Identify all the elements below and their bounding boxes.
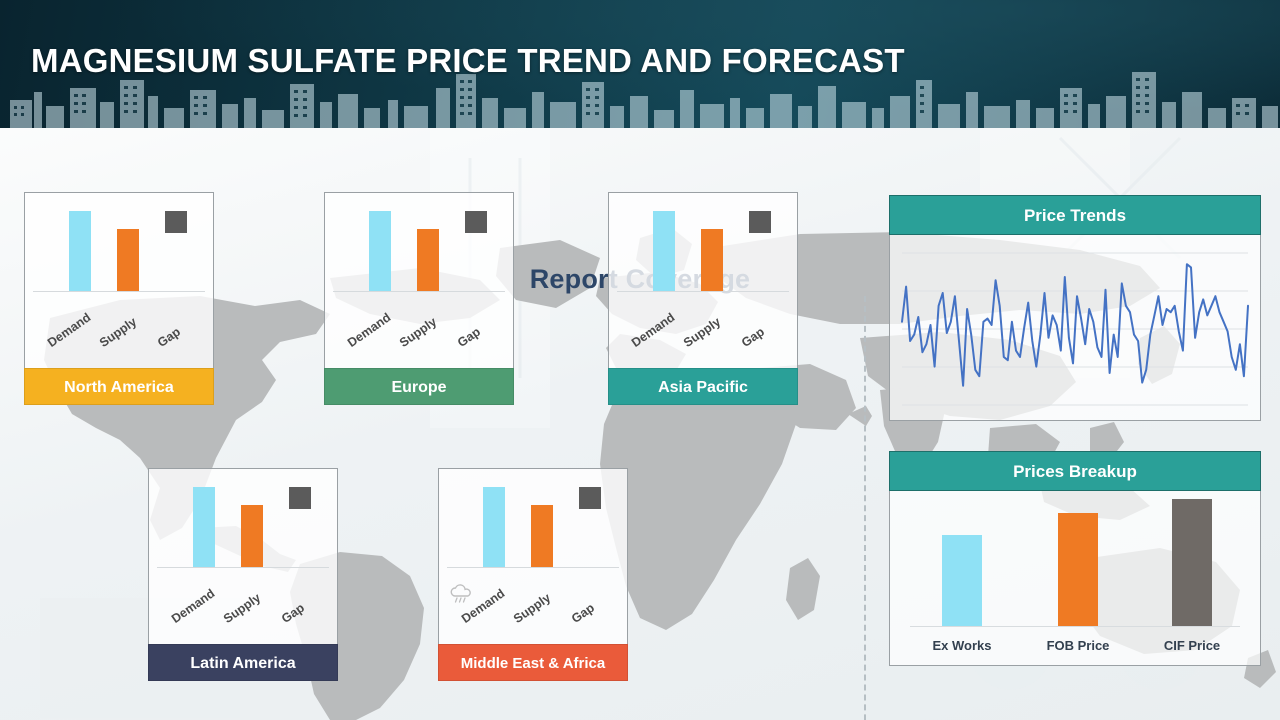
- bar-label-gap: Gap: [279, 601, 307, 626]
- region-chart: Demand Supply Gap: [148, 468, 338, 644]
- prices-breakup-chart: Ex Works FOB Price CIF Price: [889, 491, 1261, 666]
- bar-label-demand: Demand: [169, 586, 217, 626]
- region-card-latin-america[interactable]: Demand Supply Gap Latin America: [148, 468, 338, 681]
- panel-title-price-trends: Price Trends: [889, 195, 1261, 235]
- bar-gap: [579, 487, 601, 509]
- bar-ex-works: [942, 535, 982, 626]
- bar-supply: [701, 229, 723, 291]
- region-card-north-america[interactable]: Demand Supply Gap North America: [24, 192, 214, 405]
- bar-supply: [417, 229, 439, 291]
- bar-label-gap: Gap: [155, 325, 183, 350]
- region-chart: Demand Supply Gap: [438, 468, 628, 644]
- chart-baseline: [447, 567, 619, 568]
- bar-gap: [465, 211, 487, 233]
- region-card-asia-pacific[interactable]: Demand Supply Gap Asia Pacific: [608, 192, 798, 405]
- bar-demand: [483, 487, 505, 567]
- bar-gap: [749, 211, 771, 233]
- cloud-rain-icon: [449, 584, 473, 604]
- bar-label-gap: Gap: [739, 325, 767, 350]
- bar-label-gap: Gap: [455, 325, 483, 350]
- region-chart: Demand Supply Gap: [24, 192, 214, 368]
- bar-cif-price: [1172, 499, 1212, 626]
- bar-demand: [653, 211, 675, 291]
- bar-supply: [531, 505, 553, 567]
- region-chart: Demand Supply Gap: [324, 192, 514, 368]
- price-trends-line-svg: [890, 235, 1260, 419]
- bar-demand: [69, 211, 91, 291]
- bar-label-supply: Supply: [97, 315, 139, 350]
- chart-baseline: [333, 291, 505, 292]
- page-title-banner: MAGNESIUM SULFATE PRICE TREND AND FORECA…: [31, 42, 905, 80]
- panel-price-trends[interactable]: Price Trends: [889, 195, 1261, 421]
- bar-label-supply: Supply: [511, 591, 553, 626]
- bar-label-supply: Supply: [681, 315, 723, 350]
- bar-supply: [241, 505, 263, 567]
- region-footer-label[interactable]: Middle East & Africa: [438, 644, 628, 681]
- region-footer-label[interactable]: North America: [24, 368, 214, 405]
- bar-gap: [165, 211, 187, 233]
- bar-gap: [289, 487, 311, 509]
- bar-label-fob-price: FOB Price: [1023, 638, 1133, 653]
- bar-label-demand: Demand: [629, 310, 677, 350]
- panel-title-prices-breakup: Prices Breakup: [889, 451, 1261, 491]
- chart-baseline: [157, 567, 329, 568]
- bar-fob-price: [1058, 513, 1098, 626]
- region-card-middle-east-africa[interactable]: Demand Supply Gap Middle East & Africa: [438, 468, 628, 681]
- bar-label-supply: Supply: [397, 315, 439, 350]
- region-footer-label[interactable]: Europe: [324, 368, 514, 405]
- page-header: MAGNESIUM SULFATE PRICE TREND AND FORECA…: [0, 0, 1280, 128]
- region-footer-label[interactable]: Latin America: [148, 644, 338, 681]
- region-chart: Demand Supply Gap: [608, 192, 798, 368]
- bar-label-gap: Gap: [569, 601, 597, 626]
- chart-baseline: [617, 291, 789, 292]
- chart-baseline: [33, 291, 205, 292]
- panel-prices-breakup[interactable]: Prices Breakup Ex Works FOB Price CIF Pr…: [889, 451, 1261, 666]
- content-stage: Report Coverage Demand Supply Gap North …: [0, 128, 1280, 720]
- region-card-europe[interactable]: Demand Supply Gap Europe: [324, 192, 514, 405]
- vertical-divider: [864, 296, 866, 720]
- chart-baseline: [910, 626, 1240, 627]
- region-footer-label[interactable]: Asia Pacific: [608, 368, 798, 405]
- bar-label-cif-price: CIF Price: [1137, 638, 1247, 653]
- bar-label-ex-works: Ex Works: [907, 638, 1017, 653]
- bar-label-demand: Demand: [45, 310, 93, 350]
- bar-supply: [117, 229, 139, 291]
- bar-demand: [369, 211, 391, 291]
- bar-demand: [193, 487, 215, 567]
- bar-label-demand: Demand: [345, 310, 393, 350]
- bar-label-supply: Supply: [221, 591, 263, 626]
- price-trends-chart: [889, 235, 1261, 421]
